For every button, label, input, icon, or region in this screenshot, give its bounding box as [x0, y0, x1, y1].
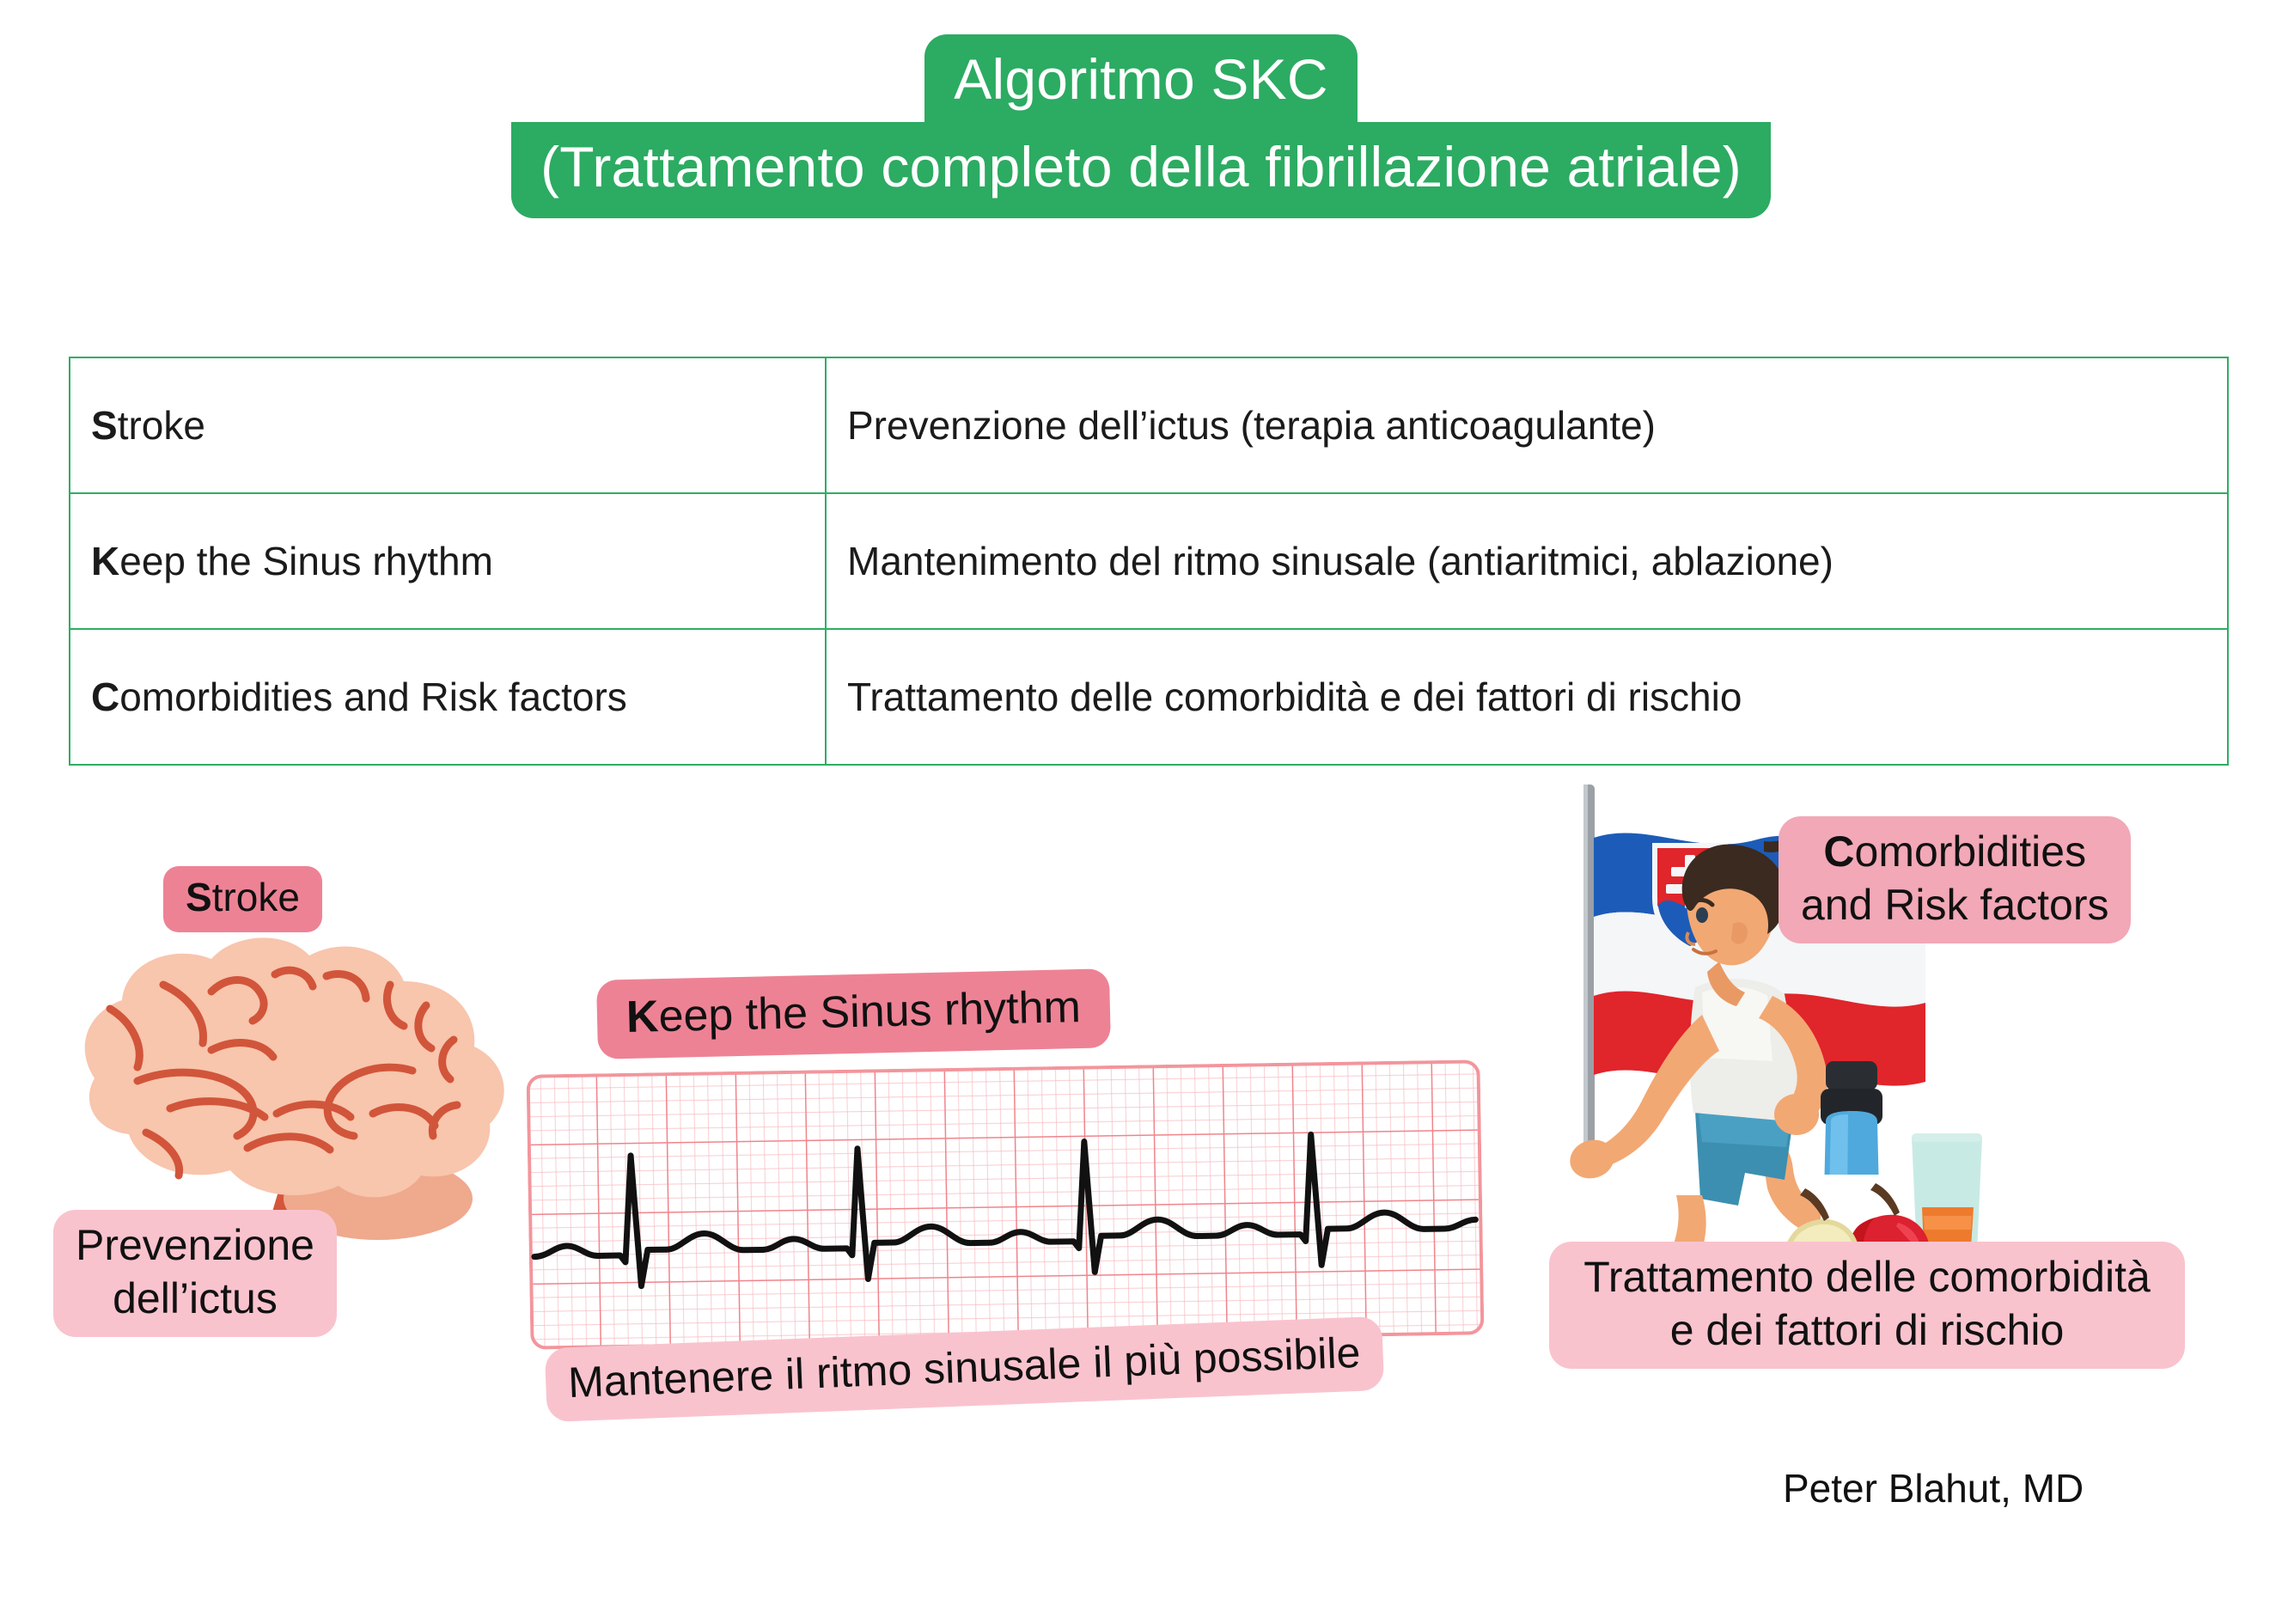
- table-cell-term: Comorbidities and Risk factors: [70, 629, 826, 765]
- rhythm-badge-rest: eep the Sinus rhythm: [658, 982, 1082, 1041]
- term-initial: C: [91, 675, 119, 719]
- stroke-badge-initial: S: [186, 875, 212, 919]
- term-rest: omorbidities and Risk factors: [119, 675, 627, 719]
- table-cell-description: Prevenzione dell’ictus (terapia anticoag…: [826, 357, 2228, 493]
- table-cell-description: Trattamento delle comorbidità e dei fatt…: [826, 629, 2228, 765]
- stroke-caption: Prevenzione dell’ictus: [53, 1210, 337, 1337]
- comorbidities-badge-rest: omorbidities: [1855, 827, 2087, 876]
- ecg-strip-illustration: [527, 1059, 1485, 1349]
- title-banner: Algoritmo SKC (Trattamento completo dell…: [0, 34, 2282, 218]
- comorbidities-badge-line2: and Risk factors: [1801, 881, 2108, 929]
- stroke-badge: Stroke: [163, 866, 322, 932]
- stroke-caption-wrapper: Prevenzione dell’ictus: [53, 1210, 423, 1337]
- stroke-badge-rest: troke: [212, 875, 300, 919]
- term-rest: troke: [118, 403, 205, 448]
- skc-definition-table: Stroke Prevenzione dell’ictus (terapia a…: [69, 357, 2229, 766]
- comorbidities-badge-wrapper: Comorbiditiesand Risk factors: [1779, 816, 2225, 943]
- panel-rhythm: Keep the Sinus rhythm Mantenere il ritmo…: [528, 971, 1542, 1624]
- author-signature: Peter Blahut, MD: [1783, 1465, 2084, 1511]
- term-rest: eep the Sinus rhythm: [119, 539, 493, 583]
- comorbidities-badge-initial: C: [1823, 827, 1854, 876]
- table-row: Keep the Sinus rhythm Mantenimento del r…: [70, 493, 2228, 629]
- rhythm-badge-wrapper: Keep the Sinus rhythm: [596, 968, 1111, 1059]
- panel-stroke: Stroke Prevenzione dell’ictus: [34, 851, 567, 1469]
- rhythm-badge-initial: K: [625, 992, 659, 1042]
- comorbidities-badge: Comorbiditiesand Risk factors: [1779, 816, 2131, 943]
- page-title-line-2: (Trattamento completo della fibrillazion…: [511, 122, 1771, 218]
- panel-comorbidities: Comorbiditiesand Risk factors Trattament…: [1525, 778, 2273, 1603]
- page-title-line-1: Algoritmo SKC: [924, 34, 1357, 131]
- table-cell-term: Keep the Sinus rhythm: [70, 493, 826, 629]
- table-row: Comorbidities and Risk factors Trattamen…: [70, 629, 2228, 765]
- table-cell-description: Mantenimento del ritmo sinusale (antiari…: [826, 493, 2228, 629]
- table-row: Stroke Prevenzione dell’ictus (terapia a…: [70, 357, 2228, 493]
- comorbidities-caption: Trattamento delle comorbidità e dei fatt…: [1549, 1242, 2185, 1369]
- rhythm-badge: Keep the Sinus rhythm: [596, 968, 1111, 1059]
- table-cell-term: Stroke: [70, 357, 826, 493]
- brain-illustration: [43, 902, 558, 1263]
- term-initial: K: [91, 539, 119, 583]
- term-initial: S: [91, 403, 118, 448]
- comorbidities-caption-wrapper: Trattamento delle comorbidità e dei fatt…: [1549, 1242, 2185, 1369]
- stroke-badge-wrapper: Stroke: [163, 866, 322, 932]
